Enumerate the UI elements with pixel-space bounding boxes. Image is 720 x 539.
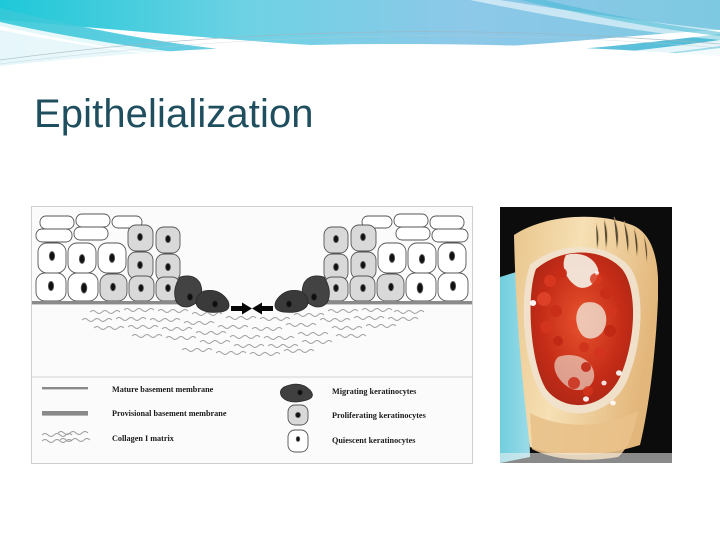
legend-symbol-quiescent-cell [288, 430, 308, 452]
wound-clinical-photograph [500, 207, 672, 463]
photo-bottom-edge [500, 453, 672, 463]
legend-label-collagen-matrix: Collagen I matrix [112, 434, 175, 443]
photo-right-edge [658, 207, 672, 463]
legend-label-quiescent-keratinocytes: Quiescent keratinocytes [332, 436, 415, 445]
slide: Epithelialization [0, 0, 720, 539]
decorative-wave-banner [0, 0, 720, 78]
legend-symbol-thin-line [42, 387, 88, 389]
page-title: Epithelialization [34, 92, 314, 137]
basement-membrane-left [32, 301, 182, 304]
legend-symbol-proliferating-cell [288, 405, 308, 425]
legend-label-provisional-membrane: Provisional basement membrane [112, 409, 227, 418]
basement-membrane-right [322, 301, 472, 304]
legend-label-proliferating-keratinocytes: Proliferating keratinocytes [332, 411, 426, 420]
legend-label-migrating-keratinocytes: Migrating keratinocytes [332, 387, 416, 396]
legend-symbol-thick-line [42, 411, 88, 416]
legend-label-mature-membrane: Mature basement membrane [112, 385, 214, 394]
epithelialization-diagram: Mature basement membrane Provisional bas… [31, 206, 473, 464]
